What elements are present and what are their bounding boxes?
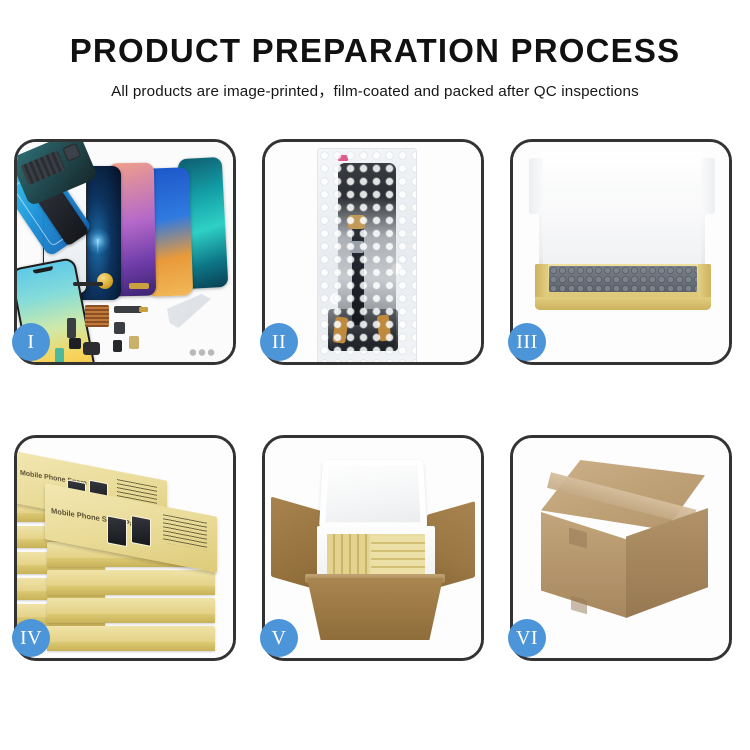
flex-cable-icon [114, 322, 125, 334]
step-badge-5: V [260, 619, 298, 657]
gold-flex-cable-icon [129, 283, 149, 289]
step-image-2 [265, 142, 481, 362]
step-panel-2: II [262, 139, 484, 365]
screws-icon [189, 348, 215, 357]
step-panel-5: V [262, 435, 484, 661]
notch-icon [33, 266, 53, 274]
box-front-lip-icon [535, 297, 711, 310]
step-image-6 [513, 438, 729, 658]
yellow-box-group-right [371, 536, 425, 578]
foam-sheet-icon [543, 196, 701, 268]
yellow-box-tray-icon [535, 264, 711, 310]
flex-cable-icon [67, 318, 76, 338]
inner-box-illustration [513, 142, 729, 362]
box-edge [47, 598, 215, 623]
camera-module-icon [129, 336, 139, 349]
step-panel-1: I [14, 139, 236, 365]
flex-cable-icon [114, 306, 142, 313]
page-subtitle: All products are image-printed，film-coat… [0, 79, 750, 101]
page-title: PRODUCT PREPARATION PROCESS [0, 34, 750, 69]
box-edge [47, 626, 215, 651]
step-badge-6: VI [508, 619, 546, 657]
step-badge-4: IV [12, 619, 50, 657]
sealed-carton-illustration [513, 438, 729, 658]
speaker-bar-part-icon [73, 282, 103, 286]
speaker-module-icon [83, 342, 100, 355]
phones-and-parts-illustration [17, 142, 233, 362]
yellow-box-group-left [327, 534, 369, 578]
step-image-5 [265, 438, 481, 658]
chip-part-icon [69, 338, 81, 349]
step-badge-2: II [260, 323, 298, 361]
step-panel-4: Mobile Phone Spare Parts Mobile Phone Sp… [14, 435, 236, 661]
foam-carton-illustration [265, 438, 481, 658]
bubble-wrapped-contents-icon [549, 266, 697, 292]
box-spec-lines [163, 514, 207, 551]
step-image-4: Mobile Phone Spare Parts Mobile Phone Sp… [17, 438, 233, 658]
copper-grid-part-icon [85, 305, 109, 327]
bubble-wrap-bag-icon [317, 148, 417, 362]
battery-connector-icon [55, 348, 64, 362]
stacked-boxes-illustration: Mobile Phone Spare Parts Mobile Phone Sp… [17, 438, 233, 658]
foam-lid-icon [319, 460, 427, 529]
step-badge-3: III [508, 323, 546, 361]
yellow-boxes-inside-icon [327, 534, 425, 578]
phone-thumbnail-icon [107, 515, 127, 547]
box-label-text: Mobile Phone Spare Parts [51, 506, 144, 530]
chip-part-icon [113, 340, 122, 352]
step-panel-3: III [510, 139, 732, 365]
step-panel-6: VI [510, 435, 732, 661]
page-header: PRODUCT PREPARATION PROCESS All products… [0, 0, 750, 101]
box-edge [47, 570, 215, 595]
process-steps-grid: I II [14, 139, 736, 661]
step-image-1 [17, 142, 233, 362]
phone-thumbnail-icon [131, 515, 151, 547]
bubble-wrap-illustration [265, 142, 481, 362]
step-image-3 [513, 142, 729, 362]
step-badge-1: I [12, 323, 50, 361]
gold-component-icon [97, 273, 113, 289]
carton-body-icon [307, 578, 443, 640]
bubble-texture-icon [318, 149, 416, 362]
tweezer-icon [167, 294, 211, 328]
